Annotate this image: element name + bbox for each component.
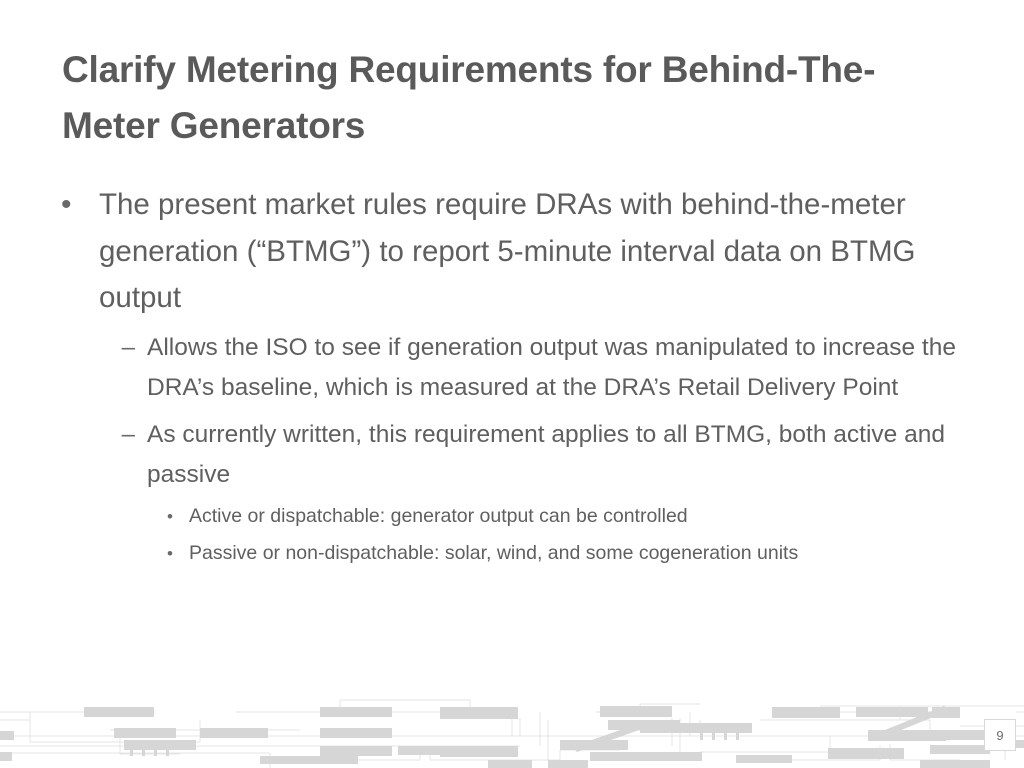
bullet-dash-icon: –	[58, 415, 147, 456]
bullet-item-level2: – Allows the ISO to see if generation ou…	[58, 328, 968, 409]
slide-title: Clarify Metering Requirements for Behind…	[62, 42, 962, 153]
bullet-item-level2: – As currently written, this requirement…	[58, 415, 968, 496]
presentation-slide: Clarify Metering Requirements for Behind…	[0, 0, 1024, 768]
bullet-item-level1: • The present market rules require DRAs …	[58, 182, 968, 322]
bullet-small-dot-icon: •	[58, 537, 189, 571]
bullet-item-level3: • Passive or non-dispatchable: solar, wi…	[58, 537, 968, 571]
bullet-dash-icon: –	[58, 328, 147, 369]
slide-body: • The present market rules require DRAs …	[58, 182, 968, 571]
bullet-item-level3: • Active or dispatchable: generator outp…	[58, 500, 968, 534]
bullet-text: Passive or non-dispatchable: solar, wind…	[189, 537, 968, 571]
bullet-text: As currently written, this requirement a…	[147, 415, 968, 496]
page-number-badge: 9	[984, 719, 1016, 751]
bullet-text: The present market rules require DRAs wi…	[99, 182, 968, 322]
bullet-dot-icon: •	[58, 182, 99, 229]
bullet-small-dot-icon: •	[58, 500, 189, 534]
bullet-text: Active or dispatchable: generator output…	[189, 500, 968, 534]
page-number-text: 9	[996, 729, 1003, 742]
bullet-text: Allows the ISO to see if generation outp…	[147, 328, 968, 409]
schematic-watermark-graphic	[0, 690, 1024, 768]
